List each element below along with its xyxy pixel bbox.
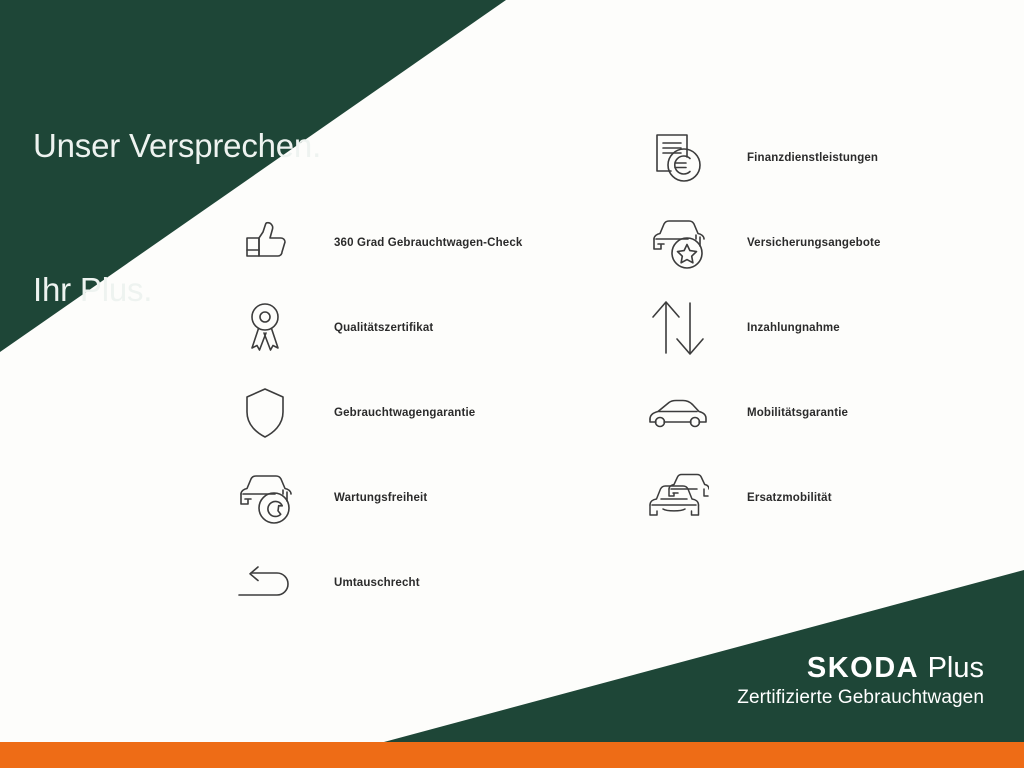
document-euro-icon xyxy=(645,127,711,189)
feature-item: Wartungsfreiheit xyxy=(232,455,592,540)
return-arrow-icon xyxy=(232,552,298,614)
feature-label: Inzahlungnahme xyxy=(747,322,840,334)
award-rosette-icon xyxy=(232,297,298,359)
car-star-icon xyxy=(645,212,711,274)
thumbs-up-icon xyxy=(232,212,298,274)
feature-label: Qualitätszertifikat xyxy=(334,322,433,334)
feature-item: Finanzdienstleistungen xyxy=(645,115,995,200)
car-wrench-icon xyxy=(232,467,298,529)
feature-label: Gebrauchtwagengarantie xyxy=(334,407,475,419)
brand-tagline: Zertifizierte Gebrauchtwagen xyxy=(737,685,984,711)
feature-item: Gebrauchtwagengarantie xyxy=(232,370,592,455)
brand-suffix: Plus xyxy=(928,652,984,684)
headline-line-1: Unser Versprechen. xyxy=(33,122,321,170)
brand-lockup: SKODA Plus Zertifizierte Gebrauchtwagen xyxy=(737,652,984,711)
brand-name: SKODA xyxy=(807,652,918,684)
feature-label: Versicherungsangebote xyxy=(747,237,881,249)
shield-icon xyxy=(232,382,298,444)
feature-column-left: 360 Grad Gebrauchtwagen-Check Qualitätsz… xyxy=(232,200,592,625)
feature-label: Wartungsfreiheit xyxy=(334,492,427,504)
orange-accent-bar xyxy=(0,742,1024,768)
feature-item: Umtauschrecht xyxy=(232,540,592,625)
promo-banner: Unser Versprechen. Ihr Plus. 360 Grad Ge… xyxy=(0,0,1024,768)
up-down-arrows-icon xyxy=(645,297,711,359)
car-side-icon xyxy=(645,382,711,444)
feature-column-right: Finanzdienstleistungen Versicherungsange… xyxy=(645,115,995,540)
feature-item: Qualitätszertifikat xyxy=(232,285,592,370)
feature-label: Umtauschrecht xyxy=(334,577,420,589)
feature-label: Finanzdienstleistungen xyxy=(747,152,878,164)
brand-wordmark: SKODA Plus xyxy=(737,652,984,685)
feature-item: Versicherungsangebote xyxy=(645,200,995,285)
two-cars-icon xyxy=(645,467,711,529)
feature-label: 360 Grad Gebrauchtwagen-Check xyxy=(334,237,522,249)
feature-item: Inzahlungnahme xyxy=(645,285,995,370)
feature-label: Mobilitätsgarantie xyxy=(747,407,848,419)
feature-item: 360 Grad Gebrauchtwagen-Check xyxy=(232,200,592,285)
feature-item: Ersatzmobilität xyxy=(645,455,995,540)
feature-label: Ersatzmobilität xyxy=(747,492,832,504)
feature-item: Mobilitätsgarantie xyxy=(645,370,995,455)
